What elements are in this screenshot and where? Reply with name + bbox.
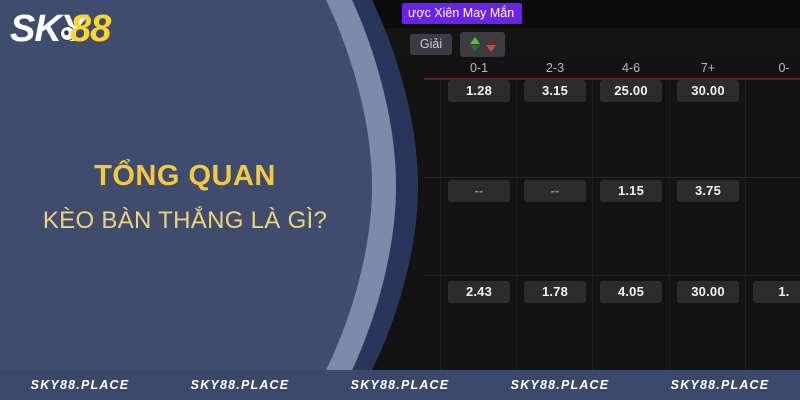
row-divider	[424, 275, 800, 276]
sort-arrows-button[interactable]	[460, 32, 505, 57]
sky88-logo[interactable]: SKY 88	[8, 6, 138, 52]
odds-cell[interactable]: 1.28	[448, 80, 510, 102]
footer-watermark-bar: SKY88.PLACESKY88.PLACESKY88.PLACESKY88.P…	[0, 370, 800, 400]
column-header-4: 7+	[677, 58, 739, 78]
page-title: TỔNG QUAN	[0, 160, 370, 193]
column-header-1: 0-1	[448, 58, 510, 78]
odds-cell[interactable]: 25.00	[600, 80, 662, 102]
sort-green-arrows-icon	[470, 37, 480, 52]
column-divider	[440, 79, 441, 370]
odds-cell[interactable]: --	[524, 180, 586, 202]
column-divider	[592, 79, 593, 370]
column-header-2: 2-3	[524, 58, 586, 78]
footer-watermark: SKY88.PLACE	[480, 378, 640, 392]
row-divider	[424, 177, 800, 178]
odds-cell[interactable]: 4.05	[600, 281, 662, 303]
tab-lucky-parlay[interactable]: ược Xiên May Mắn	[402, 3, 522, 24]
page-subtitle: KÈO BÀN THẮNG LÀ GÌ?	[0, 207, 370, 235]
odds-cell[interactable]: 2.43	[448, 281, 510, 303]
column-header-3: 4-6	[600, 58, 662, 78]
footer-watermark: SKY88.PLACE	[320, 378, 480, 392]
odds-cell[interactable]: 3.15	[524, 80, 586, 102]
promo-banner: SKY 88 TỔNG QUAN KÈO BÀN THẮNG LÀ GÌ?	[0, 0, 420, 370]
odds-cell[interactable]: 1.78	[524, 281, 586, 303]
footer-watermark: SKY88.PLACE	[640, 378, 800, 392]
column-divider	[516, 79, 517, 370]
screenshot-root: ược Xiên May Mắn Giải 0-12-34-67+0- 1.28…	[0, 0, 800, 400]
logo-text-88: 88	[70, 6, 110, 52]
odds-cell[interactable]: 30.00	[677, 281, 739, 303]
column-divider	[669, 79, 670, 370]
footer-watermark: SKY88.PLACE	[160, 378, 320, 392]
footer-watermark: SKY88.PLACE	[0, 378, 160, 392]
odds-cell[interactable]: 30.00	[677, 80, 739, 102]
column-divider	[745, 79, 746, 370]
odds-cell[interactable]: --	[448, 180, 510, 202]
odds-cell[interactable]: 1.	[753, 281, 800, 303]
odds-cell[interactable]: 3.75	[677, 180, 739, 202]
odds-cell[interactable]: 1.15	[600, 180, 662, 202]
sort-red-arrows-icon	[486, 37, 496, 52]
column-header-5: 0-	[753, 58, 800, 78]
